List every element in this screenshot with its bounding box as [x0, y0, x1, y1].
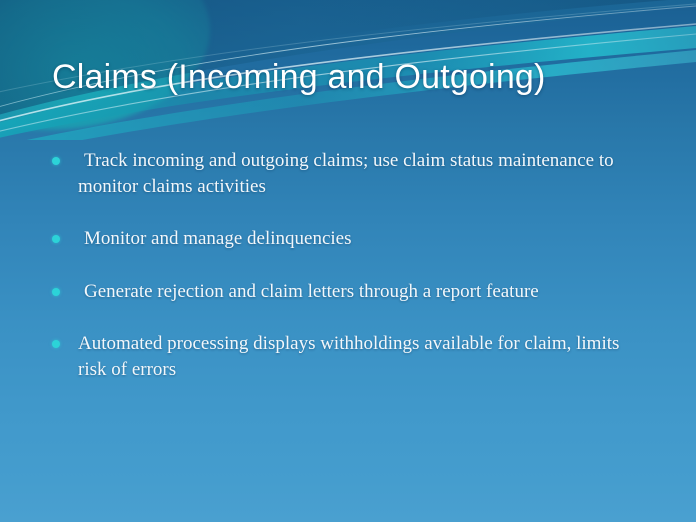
bullet-dot-icon	[52, 340, 60, 348]
list-item-text: Automated processing displays withholdin…	[78, 331, 652, 383]
list-item: Generate rejection and claim letters thr…	[52, 279, 652, 305]
list-item: Track incoming and outgoing claims; use …	[52, 148, 652, 200]
slide-bullet-list: Track incoming and outgoing claims; use …	[52, 148, 652, 409]
bullet-dot-icon	[52, 235, 60, 243]
list-item-text: Track incoming and outgoing claims; use …	[78, 148, 652, 200]
list-item: Automated processing displays withholdin…	[52, 331, 652, 383]
presentation-slide: Claims (Incoming and Outgoing) Track inc…	[0, 0, 696, 522]
slide-title: Claims (Incoming and Outgoing)	[52, 58, 546, 97]
list-item-text: Monitor and manage delinquencies	[78, 226, 652, 252]
list-item: Monitor and manage delinquencies	[52, 226, 652, 252]
bullet-dot-icon	[52, 157, 60, 165]
list-item-text: Generate rejection and claim letters thr…	[78, 279, 652, 305]
bullet-dot-icon	[52, 288, 60, 296]
